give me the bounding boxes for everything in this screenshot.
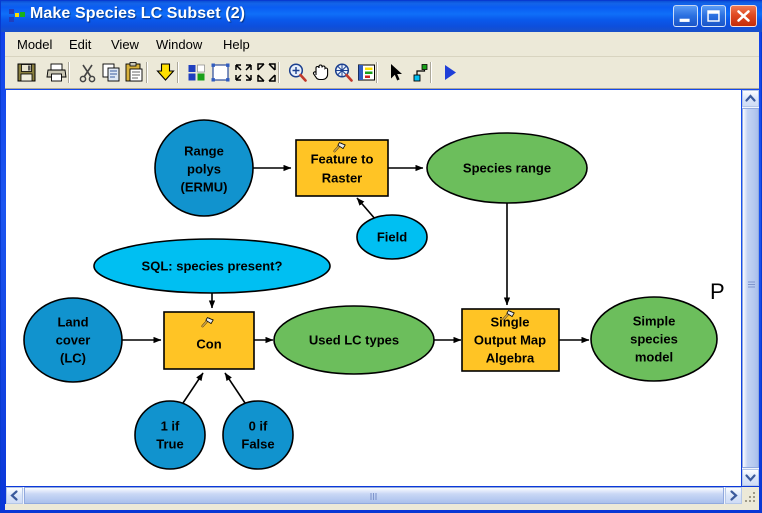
status-bar [5, 504, 759, 510]
horizontal-scrollbar[interactable] [6, 487, 742, 504]
node-single-output-map-algebra-line-1: Single [490, 314, 529, 329]
node-field[interactable]: Field [357, 215, 427, 259]
menu-item-edit[interactable]: Edit [63, 36, 97, 54]
node-zero-if-false-line-2: False [241, 436, 274, 451]
connect-icon [408, 61, 431, 84]
menu-item-help[interactable]: Help [217, 36, 256, 54]
toolbar-separator [376, 62, 378, 83]
model-diagram: Range polys (ERMU) Feature to Raster Spe… [7, 91, 741, 486]
node-one-if-true-line-1: 1 if [161, 418, 180, 433]
node-used-lc-types-label: Used LC types [309, 332, 399, 347]
maximize-button[interactable] [701, 5, 726, 27]
node-range-polys-line-3: (ERMU) [181, 179, 228, 194]
node-one-if-true-line-2: True [156, 436, 183, 451]
node-range-polys-line-2: polys [187, 161, 221, 176]
paste-button[interactable] [123, 61, 146, 84]
connector-field-to-feature-to-raster [357, 198, 376, 220]
report-button[interactable] [355, 61, 378, 84]
pan-hand-icon [309, 61, 332, 84]
pan-button[interactable] [309, 61, 332, 84]
grip-icon [748, 281, 755, 290]
save-button[interactable] [15, 61, 38, 84]
node-simple-species-model-line-1: Simple [633, 313, 676, 328]
resize-grip-icon [742, 487, 759, 504]
chevron-up-icon [743, 91, 758, 106]
node-simple-species-model[interactable]: Simple species model [591, 297, 717, 381]
scroll-down-arrow[interactable] [742, 469, 759, 486]
print-button[interactable] [45, 61, 68, 84]
close-button[interactable] [730, 5, 757, 27]
chevron-left-icon [7, 488, 22, 503]
vertical-scrollbar[interactable] [742, 90, 759, 486]
minimize-button[interactable] [673, 5, 698, 27]
fit-page-icon [255, 61, 278, 84]
resize-grip[interactable] [742, 487, 759, 504]
toolbar [5, 57, 759, 89]
scroll-left-arrow[interactable] [6, 487, 23, 504]
node-land-cover-line-3: (LC) [60, 350, 86, 365]
zoom-out-icon [332, 61, 355, 84]
toolbar-separator [68, 62, 70, 83]
node-single-output-map-algebra-line-2: Output Map [474, 332, 546, 347]
node-feature-to-raster-line-1: Feature to [311, 151, 374, 166]
toolbar-separator [430, 62, 432, 83]
node-sql-species-label: SQL: species present? [142, 258, 283, 273]
node-one-if-true[interactable]: 1 if True [135, 401, 205, 469]
copy-icon [100, 61, 123, 84]
copy-button[interactable] [100, 61, 123, 84]
full-extent-button[interactable] [209, 61, 232, 84]
menu-item-model[interactable]: Model [11, 36, 58, 54]
node-land-cover-line-1: Land [57, 314, 88, 329]
annotation-p-label: P [710, 279, 725, 304]
select-button[interactable] [384, 61, 407, 84]
application-window: Make Species LC Subset (2) Model Edit Vi… [0, 0, 762, 513]
add-data-button[interactable] [154, 61, 177, 84]
node-simple-species-model-line-3: model [635, 349, 673, 364]
chevron-right-icon [726, 488, 741, 503]
node-single-output-map-algebra-line-3: Algebra [486, 350, 535, 365]
connector-one-if-true-to-con [181, 373, 203, 406]
menu-item-window[interactable]: Window [150, 36, 208, 54]
scissors-icon [76, 61, 99, 84]
node-sql-species[interactable]: SQL: species present? [94, 239, 330, 293]
down-arrow-icon [154, 61, 177, 84]
vertical-scroll-thumb[interactable] [742, 108, 759, 468]
zoom-in-extent-button[interactable] [232, 61, 255, 84]
toolbar-separator [278, 62, 280, 83]
clipboard-icon [123, 61, 146, 84]
model-builder-icon [9, 9, 25, 24]
cut-button[interactable] [76, 61, 99, 84]
fit-page-button[interactable] [255, 61, 278, 84]
window-title: Make Species LC Subset (2) [30, 5, 245, 23]
node-zero-if-false-line-1: 0 if [249, 418, 268, 433]
arrow-cursor-icon [384, 61, 407, 84]
node-con-label: Con [196, 336, 221, 351]
connect-button[interactable] [408, 61, 431, 84]
zoom-in-button[interactable] [286, 61, 309, 84]
menu-bar: Model Edit View Window Help [5, 32, 759, 57]
layout-grid-icon [185, 61, 208, 84]
printer-icon [45, 61, 68, 84]
report-icon [355, 61, 378, 84]
node-used-lc-types[interactable]: Used LC types [274, 306, 434, 374]
node-species-range-label: Species range [463, 160, 551, 175]
node-single-output-map-algebra[interactable]: Single Output Map Algebra [462, 309, 559, 371]
node-con[interactable]: Con [164, 312, 254, 369]
connector-zero-if-false-to-con [225, 373, 247, 406]
node-species-range[interactable]: Species range [427, 133, 587, 203]
run-button[interactable] [438, 61, 461, 84]
full-extent-icon [209, 61, 232, 84]
chevron-down-icon [743, 470, 758, 485]
floppy-disk-icon [15, 61, 38, 84]
zoom-in-icon [286, 61, 309, 84]
node-field-label: Field [377, 229, 407, 244]
toolbar-separator [177, 62, 179, 83]
node-feature-to-raster-line-2: Raster [322, 170, 362, 185]
zoom-to-selected-icon [232, 61, 255, 84]
horizontal-scroll-thumb[interactable] [24, 487, 724, 504]
node-simple-species-model-line-2: species [630, 331, 678, 346]
toolbar-separator [146, 62, 148, 83]
node-land-cover[interactable]: Land cover (LC) [24, 298, 122, 382]
grip-icon [370, 493, 379, 500]
title-bar: Make Species LC Subset (2) [1, 1, 762, 32]
menu-item-view[interactable]: View [105, 36, 145, 54]
node-range-polys[interactable]: Range polys (ERMU) [155, 120, 253, 216]
scroll-up-arrow[interactable] [742, 90, 759, 107]
auto-layout-button[interactable] [185, 61, 208, 84]
scroll-right-arrow[interactable] [725, 487, 742, 504]
node-land-cover-line-2: cover [56, 332, 91, 347]
model-canvas[interactable]: Range polys (ERMU) Feature to Raster Spe… [6, 90, 741, 486]
zoom-out-button[interactable] [332, 61, 355, 84]
node-feature-to-raster[interactable]: Feature to Raster [296, 140, 388, 196]
node-range-polys-line-1: Range [184, 143, 224, 158]
play-triangle-icon [438, 61, 461, 84]
node-zero-if-false[interactable]: 0 if False [223, 401, 293, 469]
